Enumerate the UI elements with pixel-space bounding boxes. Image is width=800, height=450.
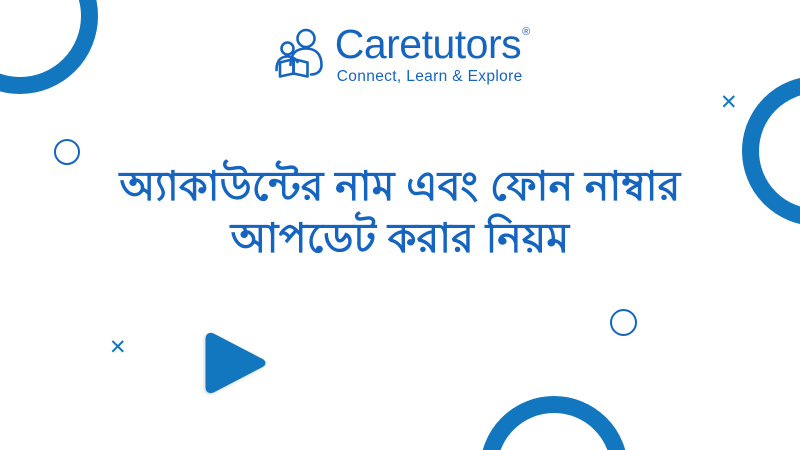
logo-text-block: Caretutors ® Connect, Learn & Explore xyxy=(335,24,531,85)
thumbnail-canvas: ✕ ✕ Caretuto xyxy=(0,0,800,450)
registered-trademark-icon: ® xyxy=(522,27,530,38)
decorative-x-icon-bottom-left: ✕ xyxy=(109,337,127,358)
decorative-circle-small-right xyxy=(610,309,637,336)
decorative-x-icon-top-right: ✕ xyxy=(720,92,738,113)
page-title: অ্যাকাউন্টের নাম এবং ফোন নাম্বার আপডেট ক… xyxy=(40,160,760,265)
logo-wordmark-row: Caretutors ® xyxy=(335,24,531,65)
adult-and-child-reading-book-icon xyxy=(270,27,326,81)
decorative-ring-bottom xyxy=(480,396,628,450)
logo-wordmark: Caretutors xyxy=(335,24,521,65)
play-triangle-icon xyxy=(205,330,267,396)
logo-tagline: Connect, Learn & Explore xyxy=(337,69,523,85)
page-title-line-1: অ্যাকাউন্টের নাম এবং ফোন নাম্বার xyxy=(40,160,760,212)
brand-logo: Caretutors ® Connect, Learn & Explore xyxy=(0,24,800,85)
page-title-line-2: আপডেট করার নিয়ম xyxy=(40,212,760,264)
